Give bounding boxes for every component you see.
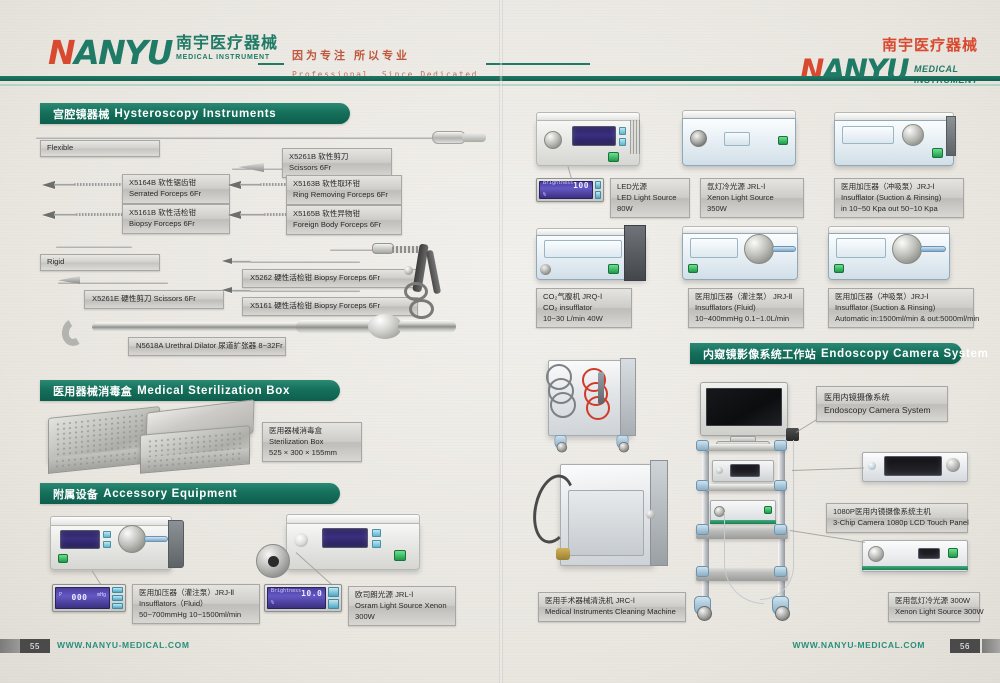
- footer-bar-right: [982, 639, 1000, 653]
- leader-line-3chip: [792, 467, 864, 471]
- label-spec: 10~30 L/min 40W: [543, 314, 625, 325]
- forceps-jaw-biopsy-flex: [42, 211, 55, 219]
- page-number-right: 56: [950, 639, 980, 653]
- detail-xenon-display: [918, 548, 940, 559]
- section-sterilization-cn: 医用器械消毒盒: [53, 383, 132, 399]
- device-button-up: [619, 127, 626, 135]
- cart-clamp-third-left: [696, 524, 709, 535]
- light-guide-cable: [724, 512, 764, 604]
- accessory-label-insufflator-fluid: 医用加压器（灌注泵）JRJ-Ⅱ Insufflators（Fluid） 50~7…: [132, 584, 260, 624]
- device-power-button: [778, 136, 788, 145]
- hose-brass-fitting: [556, 548, 570, 560]
- label-cn: X5164B 软性锯齿钳: [129, 178, 223, 189]
- label-spec: 50~700mmHg 10~1500ml/min: [139, 610, 253, 621]
- device-side-panel: [946, 116, 956, 156]
- lcd-unit: %: [271, 600, 274, 608]
- rigid-shaft-x5262: [250, 261, 360, 263]
- group-label-flexible: Flexible: [40, 140, 160, 157]
- device-display-insufflator: [60, 530, 100, 549]
- device-label-insufflator-automatic: 医用加压器（冲吸泵）JRJ-Ⅰ Insufflator (Suction & R…: [828, 288, 974, 328]
- section-hysteroscopy-cn: 宫腔镜器械: [53, 106, 110, 122]
- rigid-handle-pivot: [404, 266, 413, 275]
- device-side-panel: [168, 520, 184, 568]
- section-hysteroscopy-en: Hysteroscopy Instruments: [115, 108, 277, 120]
- group-label-rigid: Rigid: [40, 254, 160, 271]
- lcd-value: 10.0: [301, 588, 322, 600]
- lcd-value: 100: [573, 180, 589, 192]
- label-en: Medical Instruments Cleaning Machine: [545, 607, 679, 618]
- section-accessory-en: Accessory Equipment: [103, 488, 237, 500]
- instrument-label-biopsy-flexible: X5161B 软性活检钳 Biopsy Forceps 6Fr: [122, 204, 230, 234]
- dilator-shaft: [92, 322, 302, 332]
- device-power-button: [58, 554, 68, 563]
- page-number-left: 55: [20, 639, 50, 653]
- rigid-neck-x5262: [232, 260, 252, 263]
- lcd-glass: P000mHg: [55, 587, 110, 609]
- hysteroscope-hub: [462, 133, 486, 142]
- cleaning-machine-caster-left: [555, 435, 567, 449]
- wordmark-n: N: [48, 33, 74, 72]
- lcd-label: Brightness: [271, 588, 301, 600]
- device-roller-pump-knob: [744, 234, 774, 264]
- label-en: Foreign Body Forceps 6Fr: [293, 220, 395, 231]
- forceps-neck-serrated: [54, 183, 76, 186]
- label-cn: 医用手术器械清洗机 JRC-Ⅰ: [545, 596, 679, 607]
- forceps-jaw-foreign: [228, 211, 241, 219]
- device-roller-pump-knob: [892, 234, 922, 264]
- label-en: Xenon Light Source 300W: [895, 607, 973, 618]
- tagline-cn: 因为专注 所以专业: [292, 50, 410, 62]
- dilator-hub: [368, 314, 402, 339]
- section-header-hysteroscopy: 宫腔镜器械 Hysteroscopy Instruments: [40, 103, 350, 124]
- tower-monitor: [700, 382, 788, 436]
- label-en: Osram Light Source Xenon: [355, 601, 449, 612]
- rigid-divider-shaft: [56, 246, 132, 248]
- label-en: Xenon Light Source: [707, 193, 797, 204]
- label-cn: 欧司朗光源 JRL-Ⅰ: [355, 590, 449, 601]
- label-cn: 医用加压器（冲吸泵）JRJ-Ⅰ: [841, 182, 957, 193]
- suction-hose-coil-3: [550, 392, 576, 418]
- label-cn: 医用加压器（灌注泵）JRJ-Ⅱ: [139, 588, 253, 599]
- monitor-screen: [706, 388, 782, 426]
- spray-gun-nozzle: [598, 372, 604, 404]
- device-control-panel: [842, 126, 894, 144]
- footer-url-right[interactable]: WWW.NANYU-MEDICAL.COM: [792, 640, 925, 650]
- forceps-neck-biopsy-flex: [54, 213, 78, 216]
- wordmark-anyu: ANYU: [74, 33, 172, 72]
- device-button-up: [103, 531, 111, 538]
- device-side-panel: [624, 225, 646, 281]
- lcd-key-down[interactable]: [328, 599, 339, 609]
- cart-clamp-bottom-left: [696, 566, 709, 577]
- label-spec: 300W: [355, 612, 449, 623]
- label-text: X5261E 硬性剪刀 Scissors 6Fr: [92, 294, 216, 305]
- rigid-handle-ring-lower: [409, 299, 434, 319]
- label-en: Insufflators（Fluid）: [139, 599, 253, 610]
- label-en: Ring Removing Forceps 6Fr: [293, 190, 395, 201]
- rigid-jaw-x5161: [222, 287, 232, 293]
- label-en: 3-Chip Camera 1080p LCD Touch Panel: [833, 518, 961, 529]
- light-guide-port: [268, 556, 279, 567]
- device-button-down: [619, 138, 626, 146]
- device-gas-outlet-port: [540, 264, 551, 275]
- rigid-handle-arm-b: [426, 250, 441, 295]
- label-cn: X5165B 软性异物钳: [293, 209, 395, 220]
- label-en: Sterilization Box: [269, 437, 355, 448]
- dilator-curved-tip: [59, 316, 89, 349]
- lcd-key-2[interactable]: [112, 595, 123, 601]
- device-display-light-source: [322, 528, 368, 548]
- section-accessory-cn: 附属设备: [53, 486, 98, 502]
- device-label-insufflator-fluid-right: 医用加压器（灌注泵） JRJ-Ⅱ Insufflators (Fluid) 10…: [688, 288, 804, 328]
- device-tube-connector: [772, 246, 796, 252]
- label-cn: X5161B 软性活检钳: [129, 208, 223, 219]
- section-camera-cn: 内窥镜影像系统工作站: [703, 346, 816, 362]
- label-size: 525 × 300 × 155mm: [269, 448, 355, 459]
- cleaning-machine-label: 医用手术器械清洗机 JRC-Ⅰ Medical Instruments Clea…: [538, 592, 686, 622]
- device-display-led: [572, 126, 616, 146]
- section-camera-en: Endoscopy Camera System: [821, 348, 989, 360]
- rigid-jaw-x5262: [222, 258, 232, 264]
- instrument-label-rigid-biopsy-x5161: X5161 硬性活检钳 Biopsy Forceps 6Fr: [242, 297, 418, 316]
- label-en: Insufflator (Suction & Rinsing): [841, 193, 957, 204]
- device-tube-connector: [920, 246, 946, 252]
- label-cn: 氙灯冷光源 JRL-Ⅰ: [707, 182, 797, 193]
- fiber-light-cable: [760, 440, 794, 600]
- rigid-shaft-x5161: [250, 290, 360, 292]
- device-tube-connector: [144, 536, 168, 542]
- label-en: Serrated Forceps 6Fr: [129, 189, 223, 200]
- label-text: X5161 硬性活检钳 Biopsy Forceps 6Fr: [250, 301, 410, 312]
- detail-xenon-light-port: [868, 546, 884, 562]
- device-light-output-port: [690, 130, 707, 147]
- lcd-key-1[interactable]: [112, 587, 123, 593]
- device-power-button: [608, 152, 619, 162]
- device-top-panel: [682, 110, 796, 118]
- detail-xenon-power: [948, 548, 958, 558]
- label-cn: LED光源: [617, 182, 683, 193]
- lcd-key-down[interactable]: [595, 191, 601, 199]
- dilator-mid-shaft: [296, 320, 374, 334]
- dilator-handle: [398, 320, 456, 333]
- section-sterilization-en: Medical Sterilization Box: [137, 385, 290, 397]
- device-brightness-knob: [544, 131, 562, 149]
- camera-system-label: 医用内镜摄像系统 Endoscopy Camera System: [816, 386, 948, 422]
- device-power-button: [834, 264, 844, 273]
- detail-3chip-indicator: [868, 462, 876, 470]
- forceps-jaw-serrated: [42, 181, 55, 189]
- label-cn: 医用内镜摄像系统: [824, 392, 940, 404]
- lcd-key-up[interactable]: [595, 181, 601, 189]
- device-control-pad: [724, 132, 750, 146]
- camera-control-unit-display: [730, 464, 760, 477]
- label-en: CO₂ insufflator: [543, 303, 625, 314]
- detail-xenon-stripe: [862, 566, 968, 570]
- cleaning-machine-caster-right: [617, 435, 629, 449]
- label-spec: 10~400mmHg 0.1~1.0L/min: [695, 314, 797, 325]
- label-text: X5262 硬性活检钳 Biopsy Forceps 6Fr: [250, 273, 410, 284]
- cleaning-machine-dial: [646, 510, 655, 519]
- camera-control-unit-knob: [716, 467, 723, 474]
- cleaning-machine-door: [568, 490, 644, 556]
- label-cn: CO₂气腹机 JRQ-Ⅰ: [543, 292, 625, 303]
- cart-caster-left: [694, 596, 711, 616]
- lcd-value: 000: [72, 592, 88, 604]
- device-label-xenon-light-source: 氙灯冷光源 JRL-Ⅰ Xenon Light Source 350W: [700, 178, 804, 218]
- lcd-keypad[interactable]: [112, 587, 123, 609]
- brand-right-cn: 南宇医疗器械: [800, 34, 978, 55]
- label-en: Scissors 6Fr: [289, 163, 385, 174]
- header-rule-secondary: [0, 84, 1000, 86]
- instrument-label-scissors-flex: X5261B 软性剪刀 Scissors 6Fr: [282, 148, 392, 178]
- section-header-camera-system: 内窥镜影像系统工作站 Endoscopy Camera System: [690, 343, 962, 364]
- cart-caster-right: [772, 596, 789, 616]
- label-cn: 1080P医用内镜摄像系统主机: [833, 507, 961, 518]
- lcd-unit: mHg: [97, 592, 106, 604]
- lcd-keypad[interactable]: [595, 181, 601, 199]
- label-cn: 医用氙灯冷光源 300W: [895, 596, 973, 607]
- device-button-down: [103, 541, 111, 548]
- label-spec: 350W: [707, 204, 797, 215]
- device-label-led-light-source: LED光源 LED Light Source 80W: [610, 178, 690, 218]
- sterilization-box-label: 医用器械消毒盒 Sterilization Box 525 × 300 × 15…: [262, 422, 362, 462]
- device-power-button: [394, 550, 406, 561]
- section-header-accessory: 附属设备 Accessory Equipment: [40, 483, 340, 504]
- device-power-button: [608, 264, 619, 274]
- forceps-neck-ring: [240, 183, 262, 186]
- label-spec: Automatic in:1500ml/min & out:5000ml/min: [835, 314, 967, 325]
- device-power-button: [932, 148, 943, 158]
- forceps-jaw-ring: [228, 181, 241, 189]
- lcd-keypad[interactable]: [328, 587, 339, 609]
- detail-3chip-knob: [946, 458, 960, 472]
- page-spine: [499, 0, 503, 683]
- device-light-port: [294, 533, 308, 547]
- device-top-panel: [286, 514, 420, 523]
- label-en: LED Light Source: [617, 193, 683, 204]
- lcd-label: P: [59, 592, 62, 604]
- label-en: Endoscopy Camera System: [824, 404, 940, 416]
- lcd-callout-light-source: Brightness10.0 %: [264, 584, 342, 612]
- instrument-label-foreign-body: X5165B 软性异物钳 Foreign Body Forceps 6Fr: [286, 205, 402, 235]
- device-adjust-knob: [902, 124, 924, 146]
- device-label-co2-insufflator: CO₂气腹机 JRQ-Ⅰ CO₂ insufflator 10~30 L/min…: [536, 288, 632, 328]
- instrument-label-rigid-biopsy-x5262: X5262 硬性活检钳 Biopsy Forceps 6Fr: [242, 269, 418, 288]
- cart-clamp-second-left: [696, 480, 709, 491]
- instrument-label-ring-removing: X5163B 软性取环钳 Ring Removing Forceps 6Fr: [286, 175, 402, 205]
- header-rule-primary: [0, 76, 1000, 81]
- hysteroscope-eyepiece: [432, 131, 466, 144]
- device-label-insufflator-suction: 医用加压器（冲吸泵）JRJ-Ⅰ Insufflator (Suction & R…: [834, 178, 964, 218]
- rigid-neck-x5161: [232, 289, 252, 292]
- device-top-panel: [828, 226, 950, 233]
- lcd-glass: Brightness100 %: [539, 181, 593, 199]
- tagline-dash-right: [486, 63, 590, 65]
- label-cn: X5261B 软性剪刀: [289, 152, 385, 163]
- wordmark-nanyu: NANYU: [48, 36, 172, 69]
- scissors-blade-flex: [238, 163, 264, 172]
- label-spec: 80W: [617, 204, 683, 215]
- cart-clamp-top-left: [696, 440, 709, 451]
- label-cn: 医用器械消毒盒: [269, 426, 355, 437]
- label-xenon-300w: 医用氙灯冷光源 300W Xenon Light Source 300W: [888, 592, 980, 622]
- device-control-panel: [690, 238, 738, 258]
- label-en: Insufflators (Fluid): [695, 303, 797, 314]
- lcd-unit: %: [543, 192, 546, 200]
- device-top-panel: [834, 112, 954, 120]
- device-digital-readouts: [544, 240, 622, 258]
- device-vent-grille: [630, 120, 640, 154]
- label-cn: X5163B 软性取环钳: [293, 179, 395, 190]
- lcd-key-up[interactable]: [328, 587, 339, 597]
- lcd-callout-led: Brightness100 %: [536, 178, 604, 202]
- device-button-increase: [372, 529, 381, 537]
- device-top-panel: [50, 516, 172, 525]
- lcd-label: Brightness: [543, 180, 573, 192]
- device-top-panel: [682, 226, 798, 233]
- footer-url-left[interactable]: WWW.NANYU-MEDICAL.COM: [57, 640, 190, 650]
- instrument-label-urethral-dilator: N5618A Urethral Dilator 尿道扩张器 8~32Fr: [128, 337, 286, 356]
- brand-right-en: MEDICALINSTRUMENT: [914, 64, 978, 85]
- tagline-dash-left: [258, 63, 284, 65]
- instrument-label-serrated: X5164B 软性锯齿钳 Serrated Forceps 6Fr: [122, 174, 230, 204]
- accessory-label-osram-light: 欧司朗光源 JRL-Ⅰ Osram Light Source Xenon 300…: [348, 586, 456, 626]
- brand-logo-left: NANYU 南宇医疗器械 MEDICAL INSTRUMENT: [48, 36, 278, 69]
- label-cn: 医用加压器（灌注泵） JRJ-Ⅱ: [695, 292, 797, 303]
- rigid-handle-collar: [372, 243, 394, 254]
- hysteroscope-shaft: [36, 137, 436, 139]
- forceps-neck-foreign: [240, 213, 266, 216]
- section-header-sterilization: 医用器械消毒盒 Medical Sterilization Box: [40, 380, 340, 401]
- lcd-callout-insufflator: P000mHg: [52, 584, 126, 612]
- device-top-panel: [536, 112, 640, 120]
- label-en: Insufflator (Suction & Rinsing): [835, 303, 967, 314]
- instrument-label-rigid-scissors: X5261E 硬性剪刀 Scissors 6Fr: [84, 290, 224, 309]
- cleaning-machine-upper-side: [620, 358, 636, 436]
- label-text: N5618A Urethral Dilator 尿道扩张器 8~32Fr: [136, 341, 278, 352]
- rigid-handle-ring-upper: [404, 282, 428, 301]
- device-power-button: [688, 264, 698, 273]
- detail-3chip-touch-panel: [884, 456, 942, 476]
- device-control-panel: [836, 238, 886, 258]
- device-button-decrease: [372, 540, 381, 548]
- label-3chip-camera: 1080P医用内镜摄像系统主机 3-Chip Camera 1080p LCD …: [826, 503, 968, 533]
- label-spec: in 10~50 Kpa out 50~10 Kpa: [841, 204, 957, 215]
- label-cn: 医用加压器（冲吸泵）JRJ-Ⅰ: [835, 292, 967, 303]
- lcd-key-3[interactable]: [112, 603, 123, 609]
- device-roller-pump-knob: [118, 525, 146, 553]
- label-en: Biopsy Forceps 6Fr: [129, 219, 223, 230]
- lcd-glass: Brightness10.0 %: [267, 587, 326, 609]
